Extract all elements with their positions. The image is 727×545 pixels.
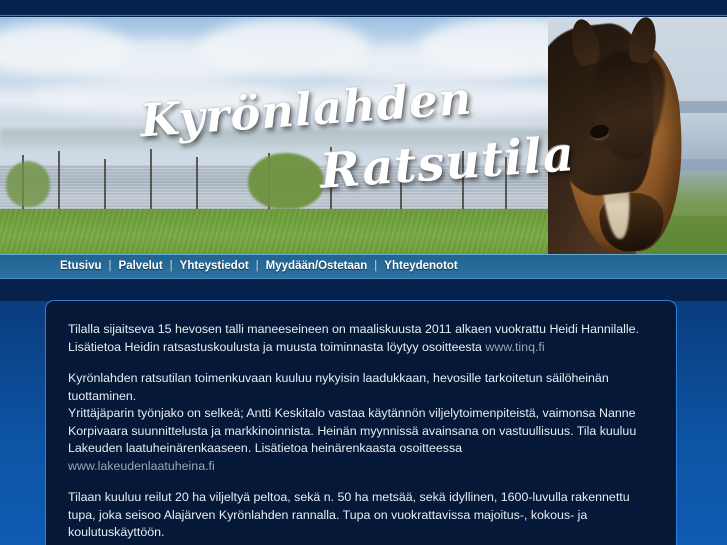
nav-separator: | (374, 255, 377, 278)
content-paragraph: Tilaan kuuluu reilut 20 ha viljeltyä pel… (68, 489, 652, 542)
nav-separator: | (256, 255, 259, 278)
shore-bush (248, 153, 324, 209)
paragraph-text: Tilaan kuuluu reilut 20 ha viljeltyä pel… (68, 490, 630, 539)
tree-trunk (196, 157, 198, 213)
nav-item-yhteystiedot[interactable]: Yhteystiedot (180, 255, 249, 278)
tree-trunk (58, 151, 60, 213)
tree-trunk (400, 155, 402, 213)
nav-list: Etusivu|Palvelut|Yhteystiedot|Myydään/Os… (60, 255, 458, 278)
page-root: Kyrönlahden Ratsutila Etusivu|Palvelut|Y… (0, 0, 727, 545)
tree-trunk (330, 147, 332, 213)
content-paragraph: Kyrönlahden ratsutilan toimenkuvaan kuul… (68, 370, 652, 475)
nav-item-etusivu[interactable]: Etusivu (60, 255, 102, 278)
paragraph-text: Tilalla sijaitseva 15 hevosen talli mane… (68, 322, 639, 354)
content-panel: Tilalla sijaitseva 15 hevosen talli mane… (45, 300, 677, 545)
shore-bush (6, 161, 50, 207)
nav-item-palvelut[interactable]: Palvelut (119, 255, 163, 278)
nav-separator: | (109, 255, 112, 278)
paragraph-text: Yrittäjäparin työnjako on selkeä; Antti … (68, 406, 636, 455)
header-banner-image (0, 17, 727, 254)
cloud-shape (30, 77, 290, 117)
external-link[interactable]: www.lakeudenlaatuheina.fi (68, 459, 215, 473)
nav-separator: | (170, 255, 173, 278)
tree-trunk (104, 159, 106, 213)
top-bar (0, 0, 727, 16)
paragraph-text: Kyrönlahden ratsutilan toimenkuvaan kuul… (68, 371, 609, 403)
tree-trunk (505, 157, 507, 213)
nav-item-yhteydenotot[interactable]: Yhteydenotot (384, 255, 457, 278)
nav-underline-band (0, 279, 727, 301)
external-link[interactable]: www.tinq.fi (485, 340, 544, 354)
content-paragraph: Tilalla sijaitseva 15 hevosen talli mane… (68, 321, 652, 356)
main-navigation: Etusivu|Palvelut|Yhteystiedot|Myydään/Os… (0, 254, 727, 279)
tree-trunk (462, 151, 464, 213)
horse-photo (548, 17, 727, 254)
nav-item-myyd-n-ostetaan[interactable]: Myydään/Ostetaan (266, 255, 368, 278)
tree-trunk (150, 149, 152, 213)
